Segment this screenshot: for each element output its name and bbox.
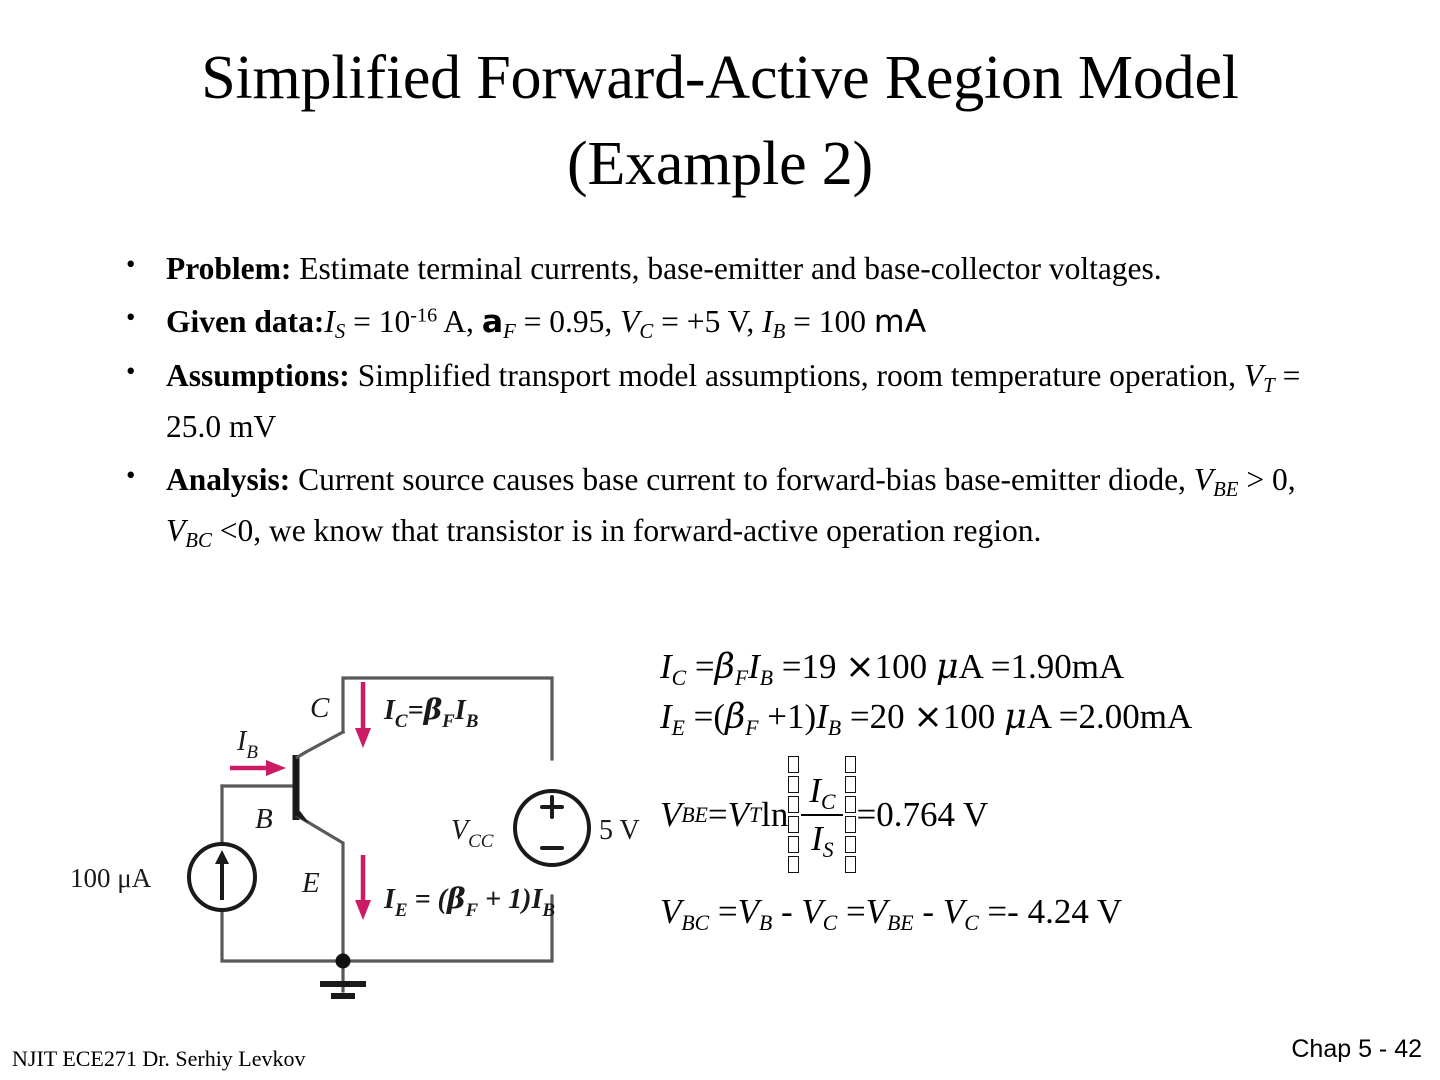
label-vcc-value: 5 V [599, 815, 640, 846]
eq4-vc2-sub: C [964, 911, 978, 935]
bullet-assumptions: • Assumptions: Simplified transport mode… [118, 350, 1318, 452]
eq2-lhs: I [660, 697, 672, 736]
voltage-source-symbol [515, 791, 589, 865]
equation-block: IC =βFIB =19 ×100 μA =1.90mA IE =(βF +1)… [660, 645, 1420, 933]
eq3-den-sub: S [823, 838, 834, 862]
eq2-op2: +1) [759, 697, 817, 736]
eq4-vbe: V [866, 892, 887, 931]
npn-transistor-symbol [294, 752, 309, 823]
title-line-2: (Example 2) [60, 122, 1380, 208]
eq1-times: × [845, 647, 874, 687]
page-title: Simplified Forward-Active Region Model (… [60, 36, 1380, 207]
alpha-symbol: a [482, 304, 503, 340]
bullet-assumptions-lead: Assumptions: [166, 358, 350, 393]
eq1-op3: =1.90mA [991, 647, 1125, 686]
ic-over-is-fraction: ICIS [801, 768, 843, 861]
is-unit: A, [437, 304, 482, 339]
equation-ic: IC =βFIB =19 ×100 μA =1.90mA [660, 645, 1420, 689]
eq4-lhs: V [660, 892, 681, 931]
ie-arrow-icon [355, 855, 371, 920]
label-ib: IB [236, 726, 258, 763]
eq4-lhs-sub: BC [681, 911, 709, 935]
eq4-vbe-sub: BE [887, 911, 914, 935]
eq4-minus1: - [772, 892, 801, 931]
equation-vbc: VBC =VB - VC =VBE - VC =- 4.24 V [660, 890, 1420, 933]
eq1-op1: = [686, 647, 715, 686]
is-exponent: -16 [410, 305, 437, 327]
vbc-subscript: BC [185, 529, 212, 552]
bullet-marker-icon: • [126, 350, 135, 394]
bullet-marker-icon: • [126, 296, 135, 340]
eq1-mu: μ [936, 647, 959, 687]
is-symbol: I [324, 304, 335, 339]
footer-attribution: NJIT ECE271 Dr. Serhiy Levkov [12, 1046, 306, 1072]
label-ie-expression: IE = (βF + 1)IB [383, 882, 555, 921]
eq3-num-sym: I [809, 771, 821, 810]
fraction-numerator: IC [801, 768, 843, 813]
bullet-given-data: • Given data:IS = 10-16 A, aF = 0.95, VC… [118, 296, 1318, 348]
eq2-unit: A [1027, 697, 1059, 736]
eq2-ib: I [816, 697, 828, 736]
eq4-op2: = [837, 892, 866, 931]
eq1-beta: β [715, 647, 735, 687]
vc-subscript: C [639, 320, 653, 343]
ib-symbol: I [762, 304, 773, 339]
current-source-label: 100 μA [70, 863, 152, 893]
eq2-lhs-sub: E [672, 716, 685, 740]
eq4-minus2: - [914, 892, 943, 931]
eq3-op2: =0.764 V [856, 793, 988, 836]
slide-canvas: Simplified Forward-Active Region Model (… [0, 0, 1440, 1080]
label-ic-expression: IC=βFIB [383, 693, 478, 732]
ib-arrow-icon [230, 760, 286, 776]
eq4-vc2: V [943, 892, 964, 931]
eq2-mu: μ [1004, 697, 1027, 737]
vt-symbol: V [1244, 358, 1263, 393]
eq4-vb: V [738, 892, 759, 931]
eq1-beta-sub: F [735, 666, 748, 690]
eq4-op3: =- 4.24 V [979, 892, 1123, 931]
eq4-op1: = [709, 892, 738, 931]
bullet-analysis-text-a: Current source causes base current to fo… [290, 462, 1194, 497]
junction-dot [336, 954, 351, 969]
eq2-num: 100 [943, 697, 1004, 736]
eq3-den-sym: I [811, 819, 823, 858]
eq2-op3: =20 [841, 697, 913, 736]
label-emitter: E [301, 867, 320, 899]
eq1-unit: A [959, 647, 991, 686]
left-paren-fallback-glyphs [788, 755, 799, 875]
vc-symbol: V [620, 304, 639, 339]
title-line-1: Simplified Forward-Active Region Model [60, 36, 1380, 122]
vc-value: = +5 V, [653, 304, 762, 339]
bullet-list: • Problem: Estimate terminal currents, b… [118, 243, 1318, 558]
fraction-denominator: IS [803, 816, 842, 861]
alpha-value: = 0.95, [516, 304, 620, 339]
eq2-ib-sub: B [828, 716, 841, 740]
eq4-vb-sub: B [759, 911, 772, 935]
bullet-analysis: • Analysis: Current source causes base c… [118, 454, 1318, 556]
label-vcc: VCC [451, 815, 494, 852]
is-value: = 10 [345, 304, 410, 339]
vt-subscript: T [1263, 374, 1275, 397]
label-collector: C [310, 692, 330, 724]
bullet-analysis-lead: Analysis: [166, 462, 290, 497]
bullet-marker-icon: • [126, 243, 135, 287]
current-source-symbol [189, 844, 255, 910]
eq2-op4: =2.00mA [1059, 697, 1193, 736]
bullet-given-lead: Given data: [166, 304, 324, 339]
vbe-subscript: BE [1213, 478, 1238, 501]
eq3-num-sub: C [821, 790, 835, 814]
circuit-svg: 100 μA C B E IB IC=βFIB IE = (βF + 1)IB … [62, 655, 662, 1000]
right-paren-fallback-glyphs [845, 755, 856, 875]
ib-value: = 100 [785, 304, 874, 339]
eq3-op1: = [708, 793, 728, 836]
eq1-op2: =19 [773, 647, 845, 686]
eq3-ln: ln [761, 793, 788, 836]
eq1-lhs-sub: C [672, 666, 686, 690]
eq3-vt: V [728, 793, 749, 836]
bullet-problem: • Problem: Estimate terminal currents, b… [118, 243, 1318, 294]
eq1-lhs: I [660, 647, 672, 686]
vbe-symbol: V [1194, 462, 1213, 497]
eq2-beta: β [725, 697, 745, 737]
bullet-marker-icon: • [126, 454, 135, 498]
footer-page-number: Chap 5 - 42 [1291, 1035, 1422, 1064]
label-base: B [255, 803, 273, 835]
alpha-subscript: F [503, 320, 516, 343]
eq2-op1: =( [685, 697, 725, 736]
ic-arrow-icon [355, 682, 371, 748]
eq3-lhs: V [660, 793, 681, 836]
bullet-analysis-text-b: > 0, [1238, 462, 1295, 497]
bullet-assumptions-text-a: Simplified transport model assumptions, … [350, 358, 1244, 393]
bullet-analysis-text-c: <0, we know that transistor is in forwar… [212, 513, 1042, 548]
eq1-ib-sub: B [760, 666, 773, 690]
vbc-symbol: V [166, 513, 185, 548]
bullet-problem-lead: Problem: [166, 251, 291, 286]
eq4-vc1-sub: C [823, 911, 837, 935]
ib-subscript: B [773, 320, 786, 343]
eq1-ib: I [748, 647, 760, 686]
equation-vbe: VBE =VT lnICIS=0.764 V [660, 740, 1420, 890]
eq1-num: 100 [875, 647, 936, 686]
is-subscript: S [335, 320, 345, 343]
eq2-times: × [913, 697, 942, 737]
equation-ie: IE =(βF +1)IB =20 ×100 μA =2.00mA [660, 695, 1420, 739]
bullet-problem-text: Estimate terminal currents, base-emitter… [291, 251, 1161, 286]
circuit-diagram: 100 μA C B E IB IC=βFIB IE = (βF + 1)IB … [62, 655, 662, 1000]
ib-unit: mA [874, 304, 926, 340]
eq4-vc1: V [801, 892, 822, 931]
eq2-beta-sub: F [745, 716, 758, 740]
